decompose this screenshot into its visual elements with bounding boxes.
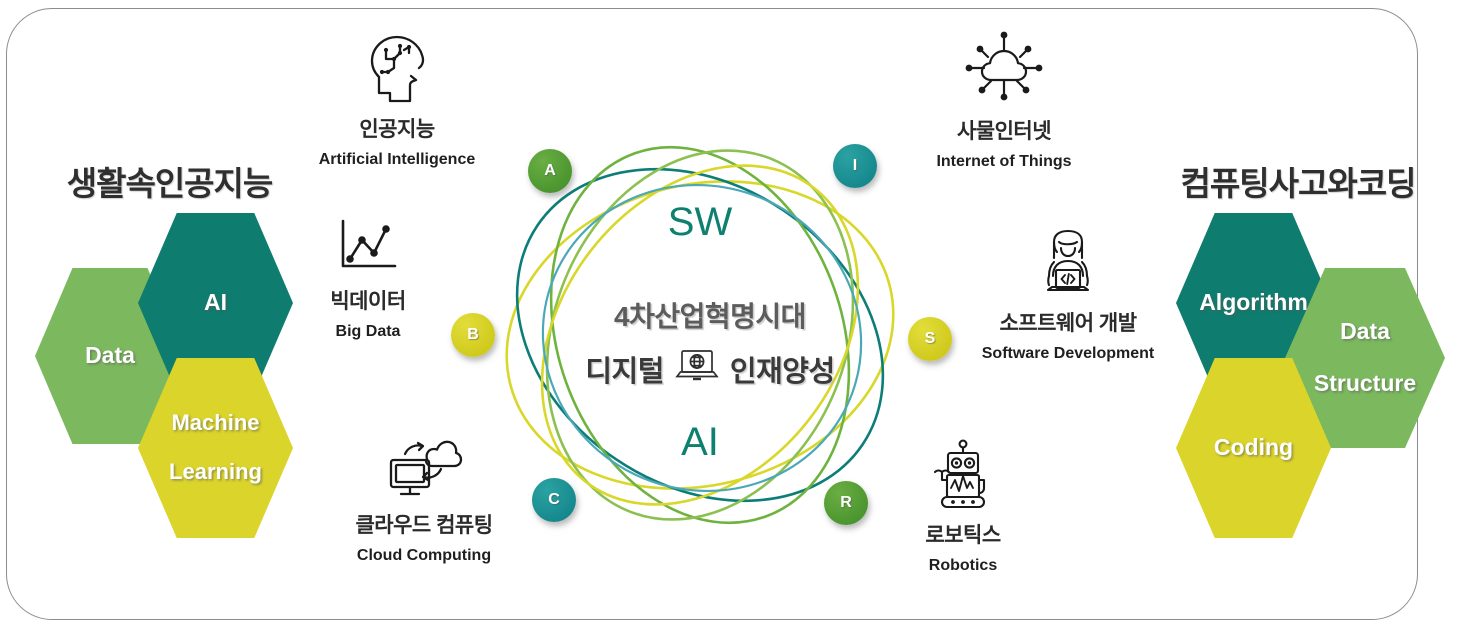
laptop-globe-icon bbox=[674, 348, 720, 390]
developer-laptop-icon bbox=[952, 228, 1184, 305]
center-headline: 4차산업혁명시대 bbox=[540, 295, 880, 335]
line-chart-icon bbox=[292, 216, 444, 283]
hex-ml-line2: Learning bbox=[163, 460, 268, 485]
hex-ml-line1: Machine bbox=[163, 411, 268, 436]
center-subline: 디지털 인재양성 bbox=[520, 348, 900, 390]
robot-icon bbox=[878, 438, 1048, 517]
topic-sd-en: Software Development bbox=[952, 344, 1184, 363]
hex-ds-line1: Data bbox=[1308, 319, 1422, 345]
badge-i: I bbox=[833, 144, 877, 188]
badge-r: R bbox=[824, 481, 868, 525]
venn-label-sw: SW bbox=[620, 200, 780, 245]
badge-c: C bbox=[532, 478, 576, 522]
topic-sd-ko: 소프트웨어 개발 bbox=[952, 311, 1184, 337]
center-subline-right: 인재양성 bbox=[730, 348, 835, 390]
badge-b: B bbox=[451, 313, 495, 357]
center-subline-left: 디지털 bbox=[585, 348, 664, 390]
topic-robotics: 로보틱스 Robotics bbox=[878, 438, 1048, 575]
topic-internet-of-things: 사물인터넷 Internet of Things bbox=[898, 28, 1110, 171]
venn-label-ai: AI bbox=[620, 420, 780, 465]
hex-data-structure-label: Data Structure bbox=[1302, 319, 1428, 396]
topic-ai-en: Artificial Intelligence bbox=[288, 150, 506, 169]
badge-c-label: C bbox=[548, 491, 560, 509]
right-cluster-title: 컴퓨팅사고와코딩 bbox=[1152, 157, 1444, 205]
topic-big-data: 빅데이터 Big Data bbox=[292, 216, 444, 341]
topic-cloud-ko: 클라우드 컴퓨팅 bbox=[324, 513, 524, 539]
left-cluster-title: 생활속인공지능 bbox=[28, 157, 311, 205]
topic-cloud-computing: 클라우드 컴퓨팅 Cloud Computing bbox=[324, 432, 524, 565]
badge-s: S bbox=[908, 317, 952, 361]
cloud-monitor-icon bbox=[324, 432, 524, 507]
badge-s-label: S bbox=[925, 330, 936, 348]
topic-iot-ko: 사물인터넷 bbox=[898, 119, 1110, 145]
brain-head-icon bbox=[288, 28, 506, 111]
hex-algorithm-label: Algorithm bbox=[1193, 290, 1314, 316]
topic-robotics-ko: 로보틱스 bbox=[878, 523, 1048, 549]
badge-i-label: I bbox=[853, 157, 857, 175]
topic-cloud-en: Cloud Computing bbox=[324, 546, 524, 565]
topic-big-data-ko: 빅데이터 bbox=[292, 289, 444, 315]
topic-iot-en: Internet of Things bbox=[898, 152, 1110, 171]
iot-cloud-nodes-icon bbox=[898, 28, 1110, 113]
hex-data-label: Data bbox=[79, 343, 141, 369]
hex-machine-learning-label: Machine Learning bbox=[157, 411, 274, 485]
badge-r-label: R bbox=[840, 494, 852, 512]
topic-software-development: 소프트웨어 개발 Software Development bbox=[952, 228, 1184, 363]
badge-b-label: B bbox=[467, 326, 479, 344]
infographic-canvas: 생활속인공지능 Data AI Machine Learning 컴퓨팅사고와코… bbox=[0, 0, 1462, 627]
topic-robotics-en: Robotics bbox=[878, 556, 1048, 575]
hex-ds-line2: Structure bbox=[1308, 371, 1422, 397]
topic-ai-ko: 인공지능 bbox=[288, 117, 506, 143]
hex-ai-label: AI bbox=[198, 290, 233, 316]
badge-a-label: A bbox=[544, 162, 556, 180]
badge-a: A bbox=[528, 149, 572, 193]
topic-artificial-intelligence: 인공지능 Artificial Intelligence bbox=[288, 28, 506, 169]
topic-big-data-en: Big Data bbox=[292, 322, 444, 341]
hex-coding-label: Coding bbox=[1208, 435, 1299, 461]
